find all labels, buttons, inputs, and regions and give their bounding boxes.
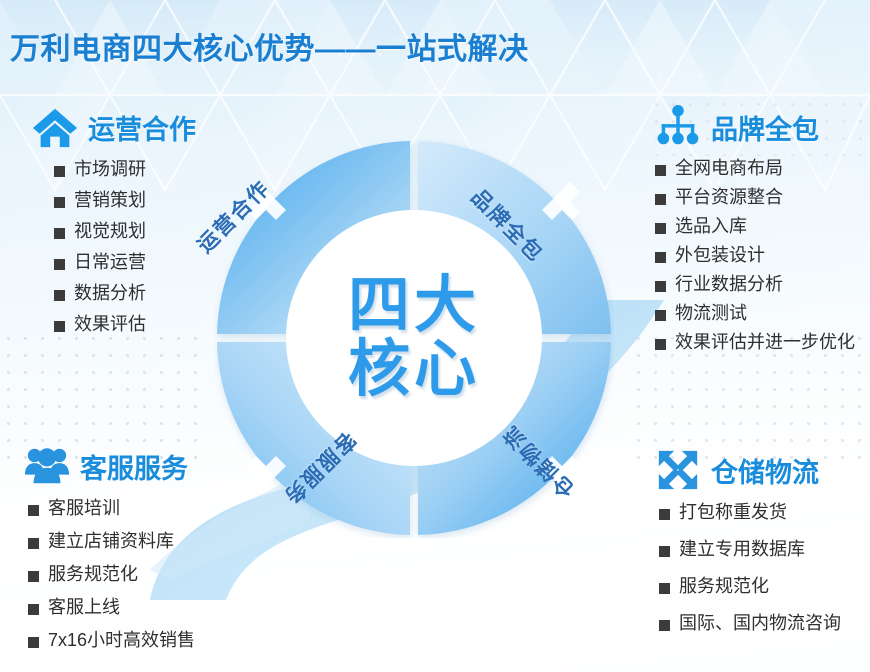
bullet-icon bbox=[28, 604, 39, 615]
core-line-1: 四大 bbox=[348, 274, 480, 338]
list-item-label: 7x16小时高效销售 bbox=[48, 631, 195, 649]
list-item-label: 物流测试 bbox=[675, 304, 747, 322]
list-item: 效果评估 bbox=[54, 315, 196, 333]
bullet-icon bbox=[28, 637, 39, 648]
list-item: 行业数据分析 bbox=[655, 275, 855, 293]
section-brand-header: 品牌全包 bbox=[655, 104, 855, 150]
section-operation-title: 运营合作 bbox=[88, 108, 196, 147]
bullet-icon bbox=[655, 310, 666, 321]
core-line-2: 核心 bbox=[348, 338, 480, 402]
expand-arrows-icon bbox=[655, 447, 701, 493]
list-item: 营销策划 bbox=[54, 191, 196, 209]
list-item-label: 服务规范化 bbox=[679, 577, 769, 595]
list-item-label: 效果评估 bbox=[74, 315, 146, 333]
bullet-icon bbox=[54, 259, 65, 270]
list-item: 国际、国内物流咨询 bbox=[659, 614, 841, 632]
list-item: 物流测试 bbox=[655, 304, 855, 322]
list-item: 平台资源整合 bbox=[655, 188, 855, 206]
list-item: 日常运营 bbox=[54, 253, 196, 271]
bullet-icon bbox=[655, 252, 666, 263]
list-item: 服务规范化 bbox=[28, 565, 195, 583]
list-item-label: 平台资源整合 bbox=[675, 188, 783, 206]
list-item-label: 选品入库 bbox=[675, 217, 747, 235]
list-item-label: 服务规范化 bbox=[48, 565, 138, 583]
list-item: 效果评估并进一步优化 bbox=[655, 333, 855, 351]
infographic-canvas: 万利电商四大核心优势——一站式解决 bbox=[0, 0, 870, 672]
bullet-icon bbox=[655, 165, 666, 176]
section-service-header: 客服服务 bbox=[24, 443, 195, 489]
home-icon bbox=[32, 104, 78, 150]
list-item-label: 打包称重发货 bbox=[679, 503, 787, 521]
list-item-label: 视觉规划 bbox=[74, 222, 146, 240]
section-brand-title: 品牌全包 bbox=[711, 108, 819, 147]
core-center-text: 四大 核心 bbox=[348, 274, 480, 402]
section-logistics-title: 仓储物流 bbox=[711, 451, 819, 490]
list-item: 建立店铺资料库 bbox=[28, 532, 195, 550]
users-icon bbox=[24, 443, 70, 489]
section-operation: 运营合作 市场调研 营销策划 视觉规划 日常运营 数据分析 效果评估 bbox=[32, 104, 196, 346]
list-item: 客服培训 bbox=[28, 499, 195, 517]
section-operation-header: 运营合作 bbox=[32, 104, 196, 150]
bullet-icon bbox=[659, 546, 670, 557]
bullet-icon bbox=[655, 223, 666, 234]
list-item-label: 客服上线 bbox=[48, 598, 120, 616]
bullet-icon bbox=[659, 509, 670, 520]
list-item: 建立专用数据库 bbox=[659, 540, 841, 558]
list-item-label: 营销策划 bbox=[74, 191, 146, 209]
bullet-icon bbox=[655, 281, 666, 292]
list-item-label: 行业数据分析 bbox=[675, 275, 783, 293]
list-item: 全网电商布局 bbox=[655, 159, 855, 177]
list-item: 外包装设计 bbox=[655, 246, 855, 264]
list-item-label: 日常运营 bbox=[74, 253, 146, 271]
bullet-icon bbox=[54, 166, 65, 177]
list-item: 视觉规划 bbox=[54, 222, 196, 240]
list-item: 打包称重发货 bbox=[659, 503, 841, 521]
section-operation-list: 市场调研 营销策划 视觉规划 日常运营 数据分析 效果评估 bbox=[54, 160, 196, 333]
section-logistics: 仓储物流 打包称重发货 建立专用数据库 服务规范化 国际、国内物流咨询 bbox=[655, 447, 841, 651]
list-item: 选品入库 bbox=[655, 217, 855, 235]
bullet-icon bbox=[659, 620, 670, 631]
section-logistics-header: 仓储物流 bbox=[655, 447, 841, 493]
section-service: 客服服务 客服培训 建立店铺资料库 服务规范化 客服上线 7x16小时高效销售 bbox=[24, 443, 195, 664]
list-item: 客服上线 bbox=[28, 598, 195, 616]
bullet-icon bbox=[54, 197, 65, 208]
list-item-label: 外包装设计 bbox=[675, 246, 765, 264]
bullet-icon bbox=[54, 290, 65, 301]
section-logistics-list: 打包称重发货 建立专用数据库 服务规范化 国际、国内物流咨询 bbox=[659, 503, 841, 632]
bullet-icon bbox=[54, 321, 65, 332]
bullet-icon bbox=[28, 538, 39, 549]
list-item-label: 客服培训 bbox=[48, 499, 120, 517]
list-item-label: 效果评估并进一步优化 bbox=[675, 333, 855, 351]
list-item: 市场调研 bbox=[54, 160, 196, 178]
list-item-label: 建立店铺资料库 bbox=[48, 532, 174, 550]
bullet-icon bbox=[54, 228, 65, 239]
section-service-list: 客服培训 建立店铺资料库 服务规范化 客服上线 7x16小时高效销售 bbox=[28, 499, 195, 649]
bullet-icon bbox=[655, 194, 666, 205]
bullet-icon bbox=[28, 571, 39, 582]
bullet-icon bbox=[659, 583, 670, 594]
list-item-label: 国际、国内物流咨询 bbox=[679, 614, 841, 632]
list-item-label: 市场调研 bbox=[74, 160, 146, 178]
section-brand: 品牌全包 全网电商布局 平台资源整合 选品入库 外包装设计 行业数据分析 物流测… bbox=[655, 104, 855, 362]
list-item: 7x16小时高效销售 bbox=[28, 631, 195, 649]
list-item-label: 数据分析 bbox=[74, 284, 146, 302]
bullet-icon bbox=[655, 339, 666, 350]
page-title: 万利电商四大核心优势——一站式解决 bbox=[10, 24, 529, 68]
list-item: 数据分析 bbox=[54, 284, 196, 302]
list-item-label: 全网电商布局 bbox=[675, 159, 783, 177]
list-item: 服务规范化 bbox=[659, 577, 841, 595]
section-service-title: 客服服务 bbox=[80, 447, 188, 486]
list-item-label: 建立专用数据库 bbox=[679, 540, 805, 558]
bullet-icon bbox=[28, 505, 39, 516]
section-brand-list: 全网电商布局 平台资源整合 选品入库 外包装设计 行业数据分析 物流测试 效果评… bbox=[655, 159, 855, 351]
org-chart-icon bbox=[655, 104, 701, 150]
